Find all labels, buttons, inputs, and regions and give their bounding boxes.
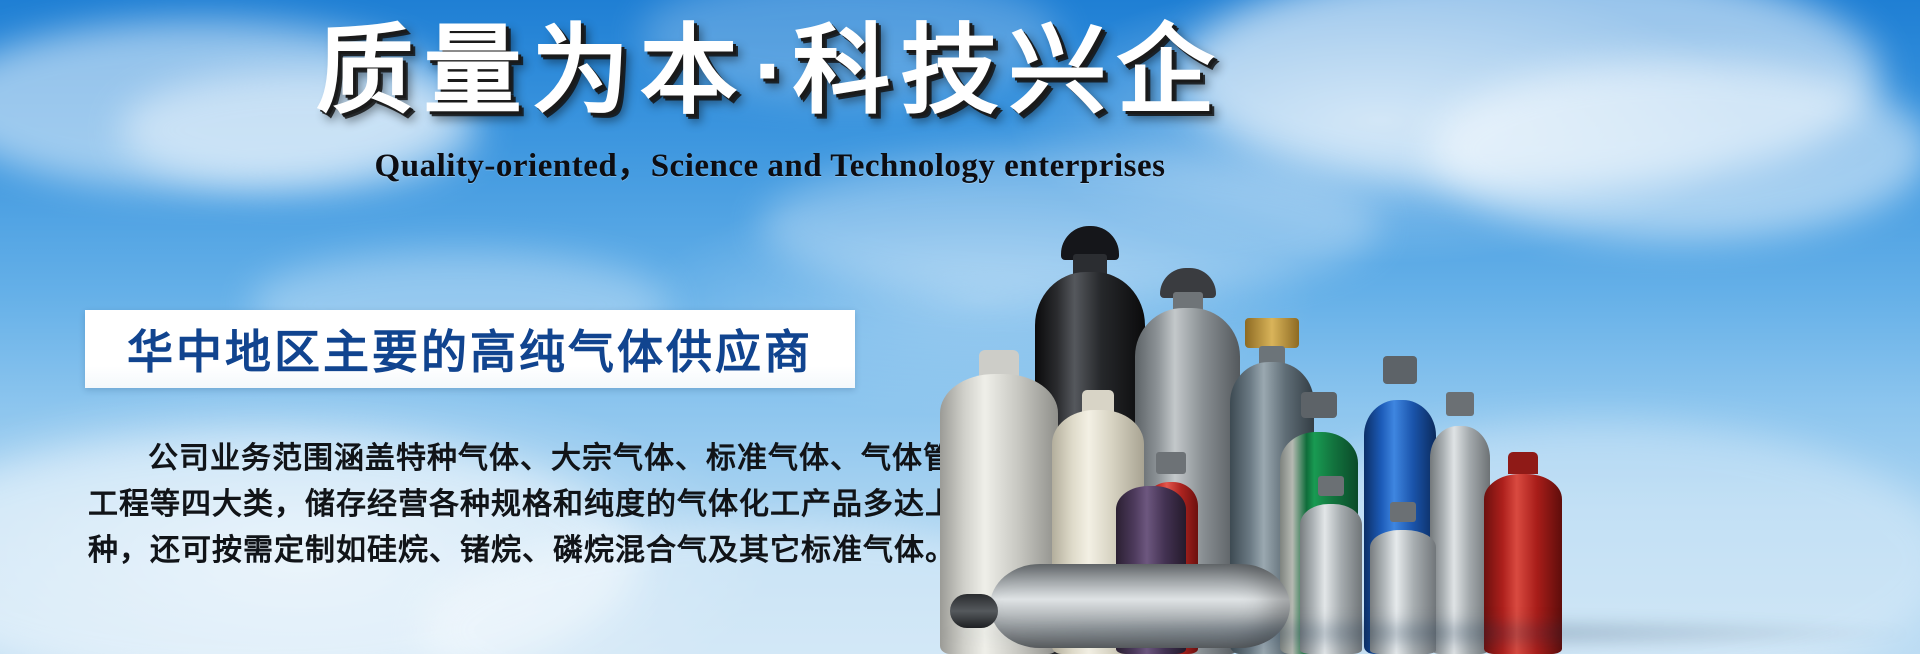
cylinder-valve <box>1301 392 1337 418</box>
brass-valve <box>1245 318 1299 348</box>
cylinder-valve <box>1383 356 1417 384</box>
hero-banner: 质量为本·科技兴企 Quality-oriented，Science and T… <box>0 0 1920 654</box>
cylinder-valve <box>1446 392 1474 416</box>
paragraph-line-2: 工程等四大类，储存经营各种规格和纯度的气体化工产品多达上百 <box>88 482 878 528</box>
paragraph-line-1: 公司业务范围涵盖特种气体、大宗气体、标准气体、气体管道 <box>88 436 878 482</box>
cylinder-neck <box>1508 452 1538 474</box>
slogan-text: 华中地区主要的高纯气体供应商 <box>127 316 813 382</box>
cylinder-ground-shadow <box>940 616 1910 650</box>
cylinder-neck <box>979 350 1019 376</box>
cylinder-valve <box>1390 502 1416 522</box>
cylinder-neck <box>1082 390 1114 412</box>
description-paragraph: 公司业务范围涵盖特种气体、大宗气体、标准气体、气体管道 工程等四大类，储存经营各… <box>88 436 878 574</box>
slogan-box: 华中地区主要的高纯气体供应商 <box>85 310 855 388</box>
paragraph-line-3: 种，还可按需定制如硅烷、锗烷、磷烷混合气及其它标准气体。 <box>88 528 878 574</box>
headline-part-one: 质量为本 <box>316 15 748 125</box>
cylinder-valve <box>1318 476 1344 496</box>
cylinder-valve <box>1156 452 1186 474</box>
gas-cylinder-group-image <box>930 0 1920 654</box>
headline-separator: · <box>748 15 793 125</box>
